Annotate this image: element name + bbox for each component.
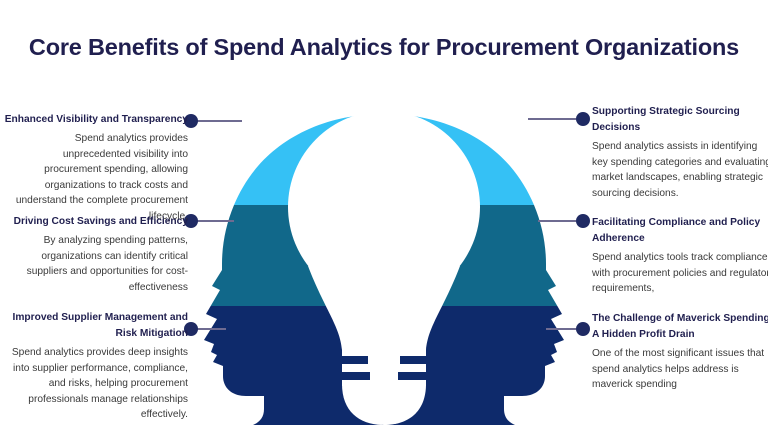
connector-line-right-1 bbox=[528, 118, 576, 120]
benefit-block-left-1: Enhanced Visibility and Transparency Spe… bbox=[4, 112, 188, 224]
benefit-body: Spend analytics assists in identifying k… bbox=[592, 139, 768, 201]
benefit-block-left-3: Improved Supplier Management and Risk Mi… bbox=[4, 310, 188, 423]
connector-line-left-3 bbox=[196, 328, 226, 330]
infographic-canvas: Core Benefits of Spend Analytics for Pro… bbox=[0, 0, 768, 432]
benefit-block-right-2: Facilitating Compliance and Policy Adher… bbox=[592, 215, 768, 297]
benefit-body: One of the most significant issues that … bbox=[592, 346, 768, 393]
benefit-heading: Improved Supplier Management and Risk Mi… bbox=[4, 310, 188, 342]
benefit-heading: The Challenge of Maverick Spending: A Hi… bbox=[592, 311, 768, 343]
connector-line-left-1 bbox=[196, 120, 242, 122]
connector-line-right-3 bbox=[546, 328, 576, 330]
connector-dot-right-1 bbox=[576, 112, 590, 126]
benefit-body: Spend analytics provides unprecedented v… bbox=[4, 131, 188, 224]
benefit-body: Spend analytics tools track compliance w… bbox=[592, 250, 768, 297]
page-title: Core Benefits of Spend Analytics for Pro… bbox=[0, 32, 768, 62]
benefit-heading: Enhanced Visibility and Transparency bbox=[4, 112, 188, 128]
connector-dot-right-2 bbox=[576, 214, 590, 228]
connector-line-left-2 bbox=[196, 220, 234, 222]
benefit-body: Spend analytics provides deep insights i… bbox=[4, 345, 188, 423]
benefit-block-left-2: Driving Cost Savings and Efficiency By a… bbox=[4, 214, 188, 295]
benefit-body: By analyzing spending patterns, organiza… bbox=[4, 233, 188, 295]
benefit-block-right-1: Supporting Strategic Sourcing Decisions … bbox=[592, 104, 768, 201]
benefit-heading: Facilitating Compliance and Policy Adher… bbox=[592, 215, 768, 247]
connector-line-right-2 bbox=[538, 220, 576, 222]
benefit-heading: Driving Cost Savings and Efficiency bbox=[4, 214, 188, 230]
two-heads-lightbulb-graphic bbox=[190, 100, 578, 425]
benefit-heading: Supporting Strategic Sourcing Decisions bbox=[592, 104, 768, 136]
connector-dot-right-3 bbox=[576, 322, 590, 336]
benefit-block-right-3: The Challenge of Maverick Spending: A Hi… bbox=[592, 311, 768, 393]
